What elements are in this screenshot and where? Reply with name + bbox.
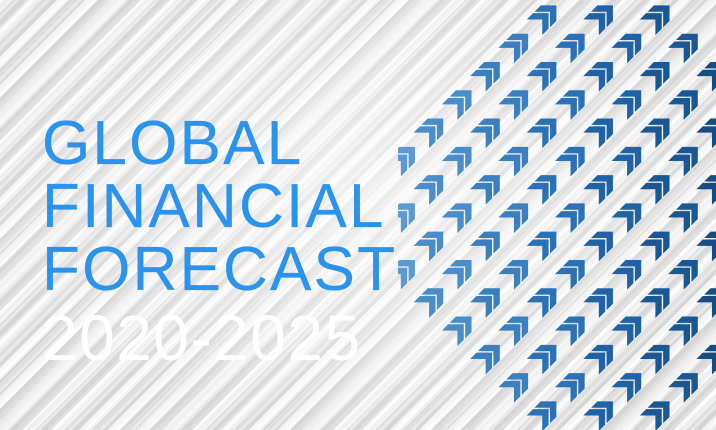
chevron-icon	[527, 54, 564, 91]
chevron-icon	[414, 280, 451, 317]
chevron-grid	[398, 0, 716, 430]
chevron-icon	[696, 54, 716, 91]
chevron-icon	[414, 111, 451, 148]
chevron-icon	[668, 26, 705, 63]
chevron-icon	[612, 139, 649, 176]
chevron-icon	[583, 0, 620, 35]
chevron-icon	[640, 394, 677, 430]
chevron-icon	[527, 280, 564, 317]
chevron-icon	[640, 224, 677, 261]
chevron-icon	[696, 280, 716, 317]
chevron-icon	[612, 365, 649, 402]
chevron-icon	[470, 54, 507, 91]
chevron-icon	[583, 111, 620, 148]
chevron-icon	[555, 196, 592, 233]
chevron-icon	[696, 111, 716, 148]
chevron-icon	[527, 0, 564, 35]
chevron-icon	[612, 252, 649, 289]
chevron-icon	[498, 365, 535, 402]
chevron-icon	[555, 139, 592, 176]
chevron-icon	[612, 196, 649, 233]
chevron-icon	[668, 139, 705, 176]
chevron-icon	[414, 224, 451, 261]
chevron-icon	[583, 394, 620, 430]
chevron-icon	[668, 365, 705, 402]
headline-line-3: FORECAST	[42, 238, 397, 301]
headline-block: GLOBAL FINANCIAL FORECAST 2020-2025	[42, 112, 397, 371]
chevron-icon	[555, 82, 592, 119]
chevron-icon	[640, 167, 677, 204]
chevron-icon	[398, 252, 423, 289]
chevron-icon	[583, 337, 620, 374]
chevron-icon	[442, 196, 479, 233]
chevron-icon	[527, 394, 564, 430]
headline-subtitle: 2020-2025	[42, 305, 397, 371]
chevron-icon	[442, 309, 479, 346]
chevron-icon	[640, 111, 677, 148]
chevron-icon	[527, 167, 564, 204]
chevron-icon	[696, 224, 716, 261]
chevron-icon	[668, 252, 705, 289]
chevron-icon	[640, 54, 677, 91]
chevron-icon	[555, 252, 592, 289]
chevron-icon	[470, 111, 507, 148]
chevron-icon	[442, 82, 479, 119]
chevron-icon	[583, 224, 620, 261]
chevron-icon	[696, 337, 716, 374]
chevron-icon	[498, 252, 535, 289]
chevron-icon	[498, 82, 535, 119]
chevron-icon	[398, 196, 423, 233]
chevron-icon	[668, 82, 705, 119]
chevron-icon	[470, 167, 507, 204]
chevron-icon	[696, 167, 716, 204]
chevron-icon	[470, 280, 507, 317]
chevron-icon	[668, 309, 705, 346]
chevron-icon	[668, 196, 705, 233]
chevron-icon	[583, 280, 620, 317]
chevron-icon	[555, 26, 592, 63]
chevron-icon	[612, 26, 649, 63]
chevron-pattern-graphic	[398, 0, 716, 430]
chevron-icon	[583, 167, 620, 204]
headline-line-1: GLOBAL	[42, 112, 397, 175]
chevron-icon	[498, 139, 535, 176]
chevron-icon	[498, 26, 535, 63]
chevron-icon	[398, 139, 423, 176]
chevron-icon	[498, 309, 535, 346]
chevron-icon	[640, 280, 677, 317]
chevron-icon	[612, 309, 649, 346]
chevron-icon	[612, 82, 649, 119]
chevron-icon	[442, 139, 479, 176]
chevron-icon	[527, 224, 564, 261]
chevron-icon	[527, 111, 564, 148]
poster-canvas: GLOBAL FINANCIAL FORECAST 2020-2025	[0, 0, 716, 430]
chevron-icon	[470, 224, 507, 261]
chevron-icon	[442, 252, 479, 289]
chevron-icon	[414, 167, 451, 204]
chevron-icon	[470, 337, 507, 374]
chevron-icon	[498, 196, 535, 233]
headline-line-2: FINANCIAL	[42, 175, 397, 238]
chevron-icon	[555, 309, 592, 346]
chevron-icon	[640, 337, 677, 374]
chevron-icon	[555, 365, 592, 402]
chevron-icon	[527, 337, 564, 374]
chevron-icon	[640, 0, 677, 35]
chevron-icon	[583, 54, 620, 91]
